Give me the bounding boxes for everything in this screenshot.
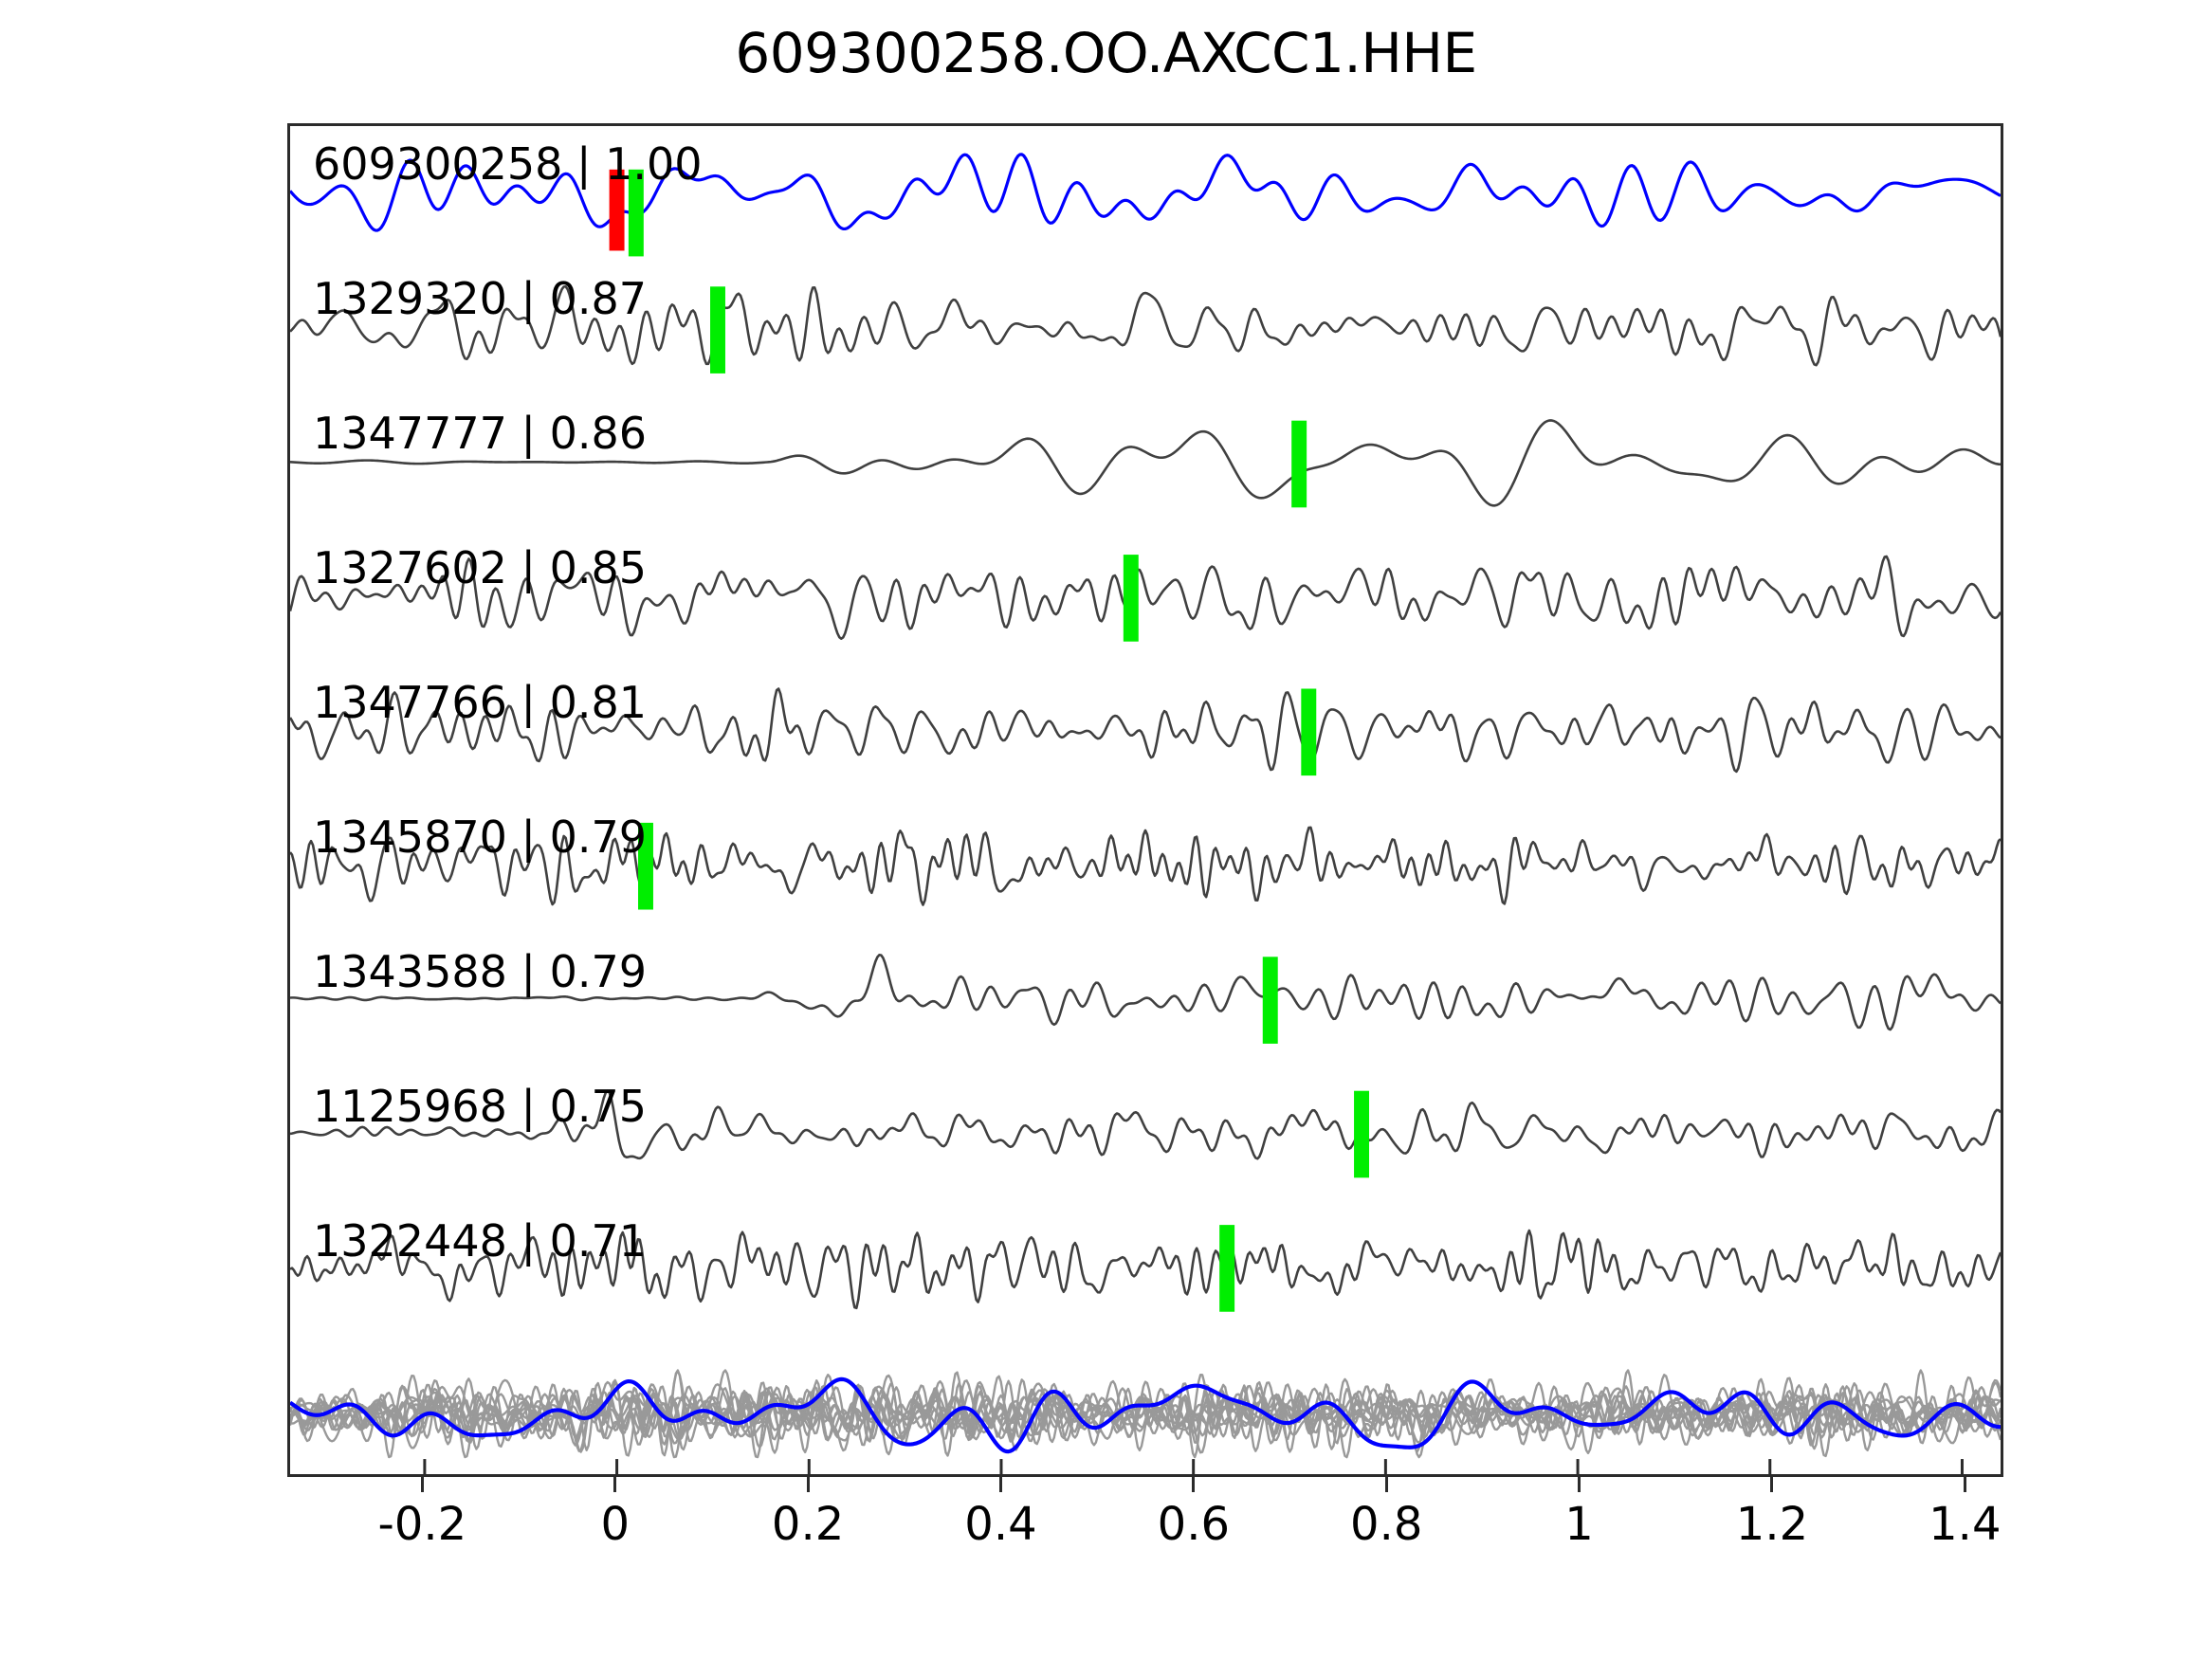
- x-tick-mark: [1578, 1477, 1581, 1492]
- trace-line: [290, 955, 2001, 1030]
- x-tick-inner: [423, 1459, 426, 1474]
- trace-line: [290, 155, 2001, 230]
- plot-area: [287, 123, 2003, 1477]
- x-tick-inner: [1384, 1459, 1387, 1474]
- trace-1345870: [290, 828, 2001, 905]
- trace-1347777: [290, 420, 2001, 505]
- seismic-waveform-figure: 609300258.OO.AXCC1.HHE 609300258 | 1.001…: [0, 0, 2212, 1659]
- x-tick-inner: [615, 1459, 618, 1474]
- x-tick-inner: [999, 1459, 1002, 1474]
- page-title: 609300258.OO.AXCC1.HHE: [0, 21, 2212, 85]
- x-tick-inner: [1768, 1459, 1771, 1474]
- x-tick-label: 0.2: [772, 1498, 844, 1551]
- pick-marker-green: [1354, 1091, 1369, 1178]
- x-tick-label: 0.6: [1158, 1498, 1230, 1551]
- trace-1327602: [290, 556, 2001, 639]
- trace-1125968: [290, 1091, 2001, 1159]
- x-tick-mark: [613, 1477, 616, 1492]
- trace-line: [290, 1091, 2001, 1159]
- trace-line: [290, 1231, 2001, 1308]
- x-tick-label: 1.4: [1929, 1498, 2001, 1551]
- x-tick-mark: [1964, 1477, 1966, 1492]
- trace-line: [290, 556, 2001, 639]
- x-tick-mark: [1192, 1477, 1195, 1492]
- x-tick-mark: [421, 1477, 424, 1492]
- trace-stack-overlay: [290, 1370, 2001, 1457]
- pick-marker-green: [1124, 555, 1139, 642]
- x-tick-label: 0: [600, 1498, 630, 1551]
- x-tick-mark: [807, 1477, 810, 1492]
- trace-1329320: [290, 286, 2001, 365]
- x-tick-mark: [1770, 1477, 1773, 1492]
- x-tick-label: 1.2: [1736, 1498, 1808, 1551]
- pick-marker-green: [1263, 957, 1278, 1044]
- pick-marker-green: [1291, 421, 1307, 508]
- trace-line: [290, 286, 2001, 365]
- x-tick-label: 0.4: [964, 1498, 1036, 1551]
- x-tick-inner: [1192, 1459, 1195, 1474]
- trace-line: [290, 420, 2001, 505]
- trace-1343588: [290, 955, 2001, 1030]
- trace-1322448: [290, 1231, 2001, 1308]
- waveform-canvas: [290, 126, 2001, 1474]
- pick-marker-green: [629, 170, 644, 257]
- x-tick-inner: [1577, 1459, 1580, 1474]
- x-tick-mark: [999, 1477, 1002, 1492]
- trace-609300258: [290, 155, 2001, 230]
- x-tick-mark: [1385, 1477, 1388, 1492]
- trace-1347766: [290, 688, 2001, 771]
- pick-marker-green: [638, 823, 653, 910]
- pick-marker-green: [710, 286, 725, 374]
- x-tick-inner: [808, 1459, 811, 1474]
- trace-line: [290, 688, 2001, 771]
- pick-marker-green: [1301, 688, 1316, 775]
- x-axis: -0.200.20.40.60.811.21.4: [287, 1477, 2003, 1562]
- pick-marker-green: [1219, 1225, 1234, 1312]
- pick-marker-red: [610, 170, 625, 251]
- trace-line: [290, 828, 2001, 905]
- x-tick-label: -0.2: [378, 1498, 467, 1551]
- x-tick-inner: [1961, 1459, 1964, 1474]
- x-tick-label: 1: [1564, 1498, 1594, 1551]
- x-tick-label: 0.8: [1350, 1498, 1422, 1551]
